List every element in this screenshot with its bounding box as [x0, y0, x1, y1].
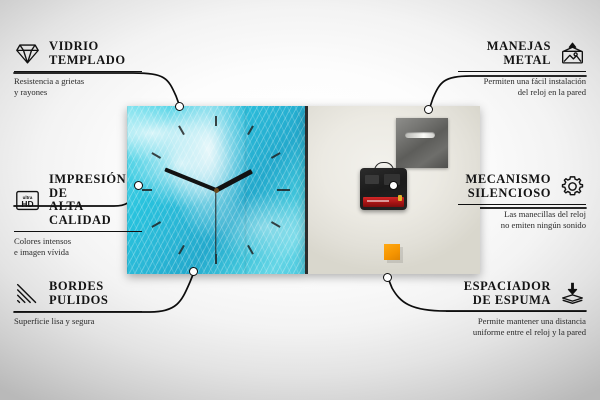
feature-title-line1: MANEJAS: [487, 40, 551, 54]
diamond-icon: [14, 41, 41, 66]
feature-vidrio-templado: VIDRIO TEMPLADO Resistencia a grietas y …: [14, 40, 142, 98]
feature-title-line2: ALTA CALIDAD: [49, 200, 142, 227]
polished-edge-icon: [14, 281, 41, 306]
feature-divider: [14, 311, 142, 312]
feature-title-line2: TEMPLADO: [49, 54, 126, 68]
gear-icon: [559, 174, 586, 199]
hanging-frame-icon: [559, 41, 586, 66]
feature-title-line2: PULIDOS: [49, 294, 108, 308]
feature-desc-line1: Permiten una fácil instalación: [458, 76, 586, 87]
feature-divider: [458, 71, 586, 72]
feature-divider: [14, 231, 142, 232]
feature-bordes-pulidos: BORDES PULIDOS Superficie lisa y segura: [14, 280, 142, 327]
metal-hanger-plate: [396, 118, 448, 168]
feature-title-line1: ESPACIADOR: [464, 280, 551, 294]
feature-desc-line2: uniforme entre el reloj y la pared: [446, 327, 586, 338]
feature-title-line1: VIDRIO: [49, 40, 126, 54]
feature-desc-line2: no emiten ningún sonido: [458, 220, 586, 231]
feature-title-line2: METAL: [487, 54, 551, 68]
connector-dot-mecanismo: [389, 181, 398, 190]
feature-divider: [458, 204, 586, 205]
feature-title-line1: BORDES: [49, 280, 108, 294]
press-down-stack-icon: [559, 281, 586, 306]
feature-mecanismo-silencioso: MECANISMO SILENCIOSO Las manecillas del …: [458, 173, 586, 231]
foam-spacer: [384, 244, 400, 260]
feature-desc-line2: y rayones: [14, 87, 142, 98]
connector-dot-bordes-pulidos: [189, 267, 198, 276]
feature-divider: [446, 311, 586, 312]
feature-desc-line2: e imagen vívida: [14, 247, 142, 258]
connector-dot-manejas-metal: [424, 105, 433, 114]
feature-impresion-alta-calidad: ultra HD IMPRESIÓN DE ALTA CALIDAD Color…: [14, 173, 142, 258]
clock-back-photo: [305, 106, 480, 274]
feature-desc-line1: Permite mantener una distancia: [446, 316, 586, 327]
feature-desc-line1: Resistencia a grietas: [14, 76, 142, 87]
clock-face-photo: [127, 106, 305, 274]
clock-center-pivot: [214, 188, 219, 193]
ultra-hd-big-label: HD: [21, 198, 33, 208]
feature-divider: [14, 71, 142, 72]
feature-desc-line1: Las manecillas del reloj: [458, 209, 586, 220]
feature-desc-line2: del reloj en la pared: [458, 87, 586, 98]
feature-title-line1: IMPRESIÓN DE: [49, 173, 142, 200]
feature-title-line2: SILENCIOSO: [465, 187, 551, 201]
feature-manejas-metal: MANEJAS METAL Permiten una fácil instala…: [458, 40, 586, 98]
infographic-canvas: VIDRIO TEMPLADO Resistencia a grietas y …: [0, 0, 600, 400]
connector-dot-espaciador: [383, 273, 392, 282]
feature-title-line2: DE ESPUMA: [464, 294, 551, 308]
ultra-hd-icon: ultra HD: [14, 188, 41, 213]
feature-desc-line1: Colores intensos: [14, 236, 142, 247]
connector-dot-vidrio-templado: [175, 102, 184, 111]
feature-desc-line1: Superficie lisa y segura: [14, 316, 142, 327]
feature-title-line1: MECANISMO: [465, 173, 551, 187]
quartz-mechanism: [360, 168, 407, 210]
feature-espaciador-de-espuma: ESPACIADOR DE ESPUMA Permite mantener un…: [446, 280, 586, 338]
battery: [363, 197, 404, 207]
